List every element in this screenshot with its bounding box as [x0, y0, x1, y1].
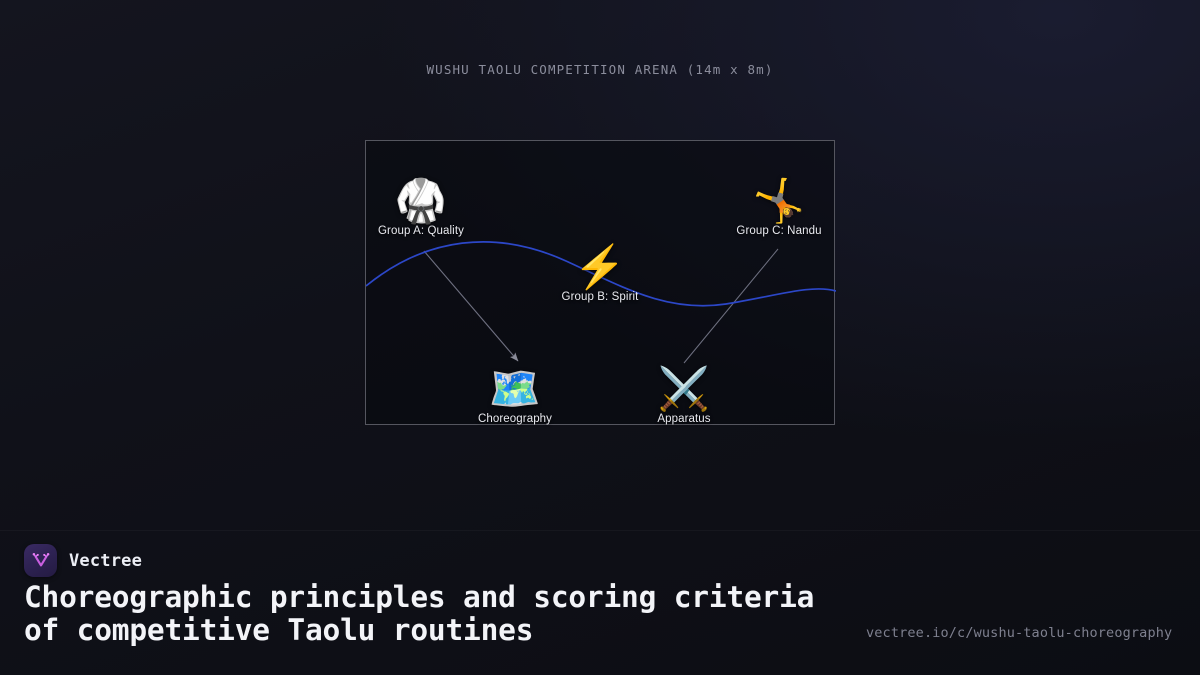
brand-name: Vectree — [69, 551, 142, 571]
connector-quality-to-choreography — [424, 251, 518, 361]
slide-canvas: WUSHU TAOLU COMPETITION ARENA (14m x 8m)… — [0, 0, 1200, 675]
vectree-logo-glyph — [31, 551, 51, 571]
routine-path-curve — [366, 242, 836, 306]
vectree-branching-v-logo — [24, 544, 57, 577]
source-url[interactable]: vectree.io/c/wushu-taolu-choreography — [866, 625, 1172, 641]
brand[interactable]: Vectree — [24, 544, 142, 577]
arena-vector-layer — [366, 141, 836, 426]
footer-divider — [0, 530, 1200, 531]
diagram-title: WUSHU TAOLU COMPETITION ARENA (14m x 8m) — [0, 62, 1200, 77]
page-title: Choreographic principles and scoring cri… — [24, 581, 854, 647]
arena-boundary — [365, 140, 835, 425]
